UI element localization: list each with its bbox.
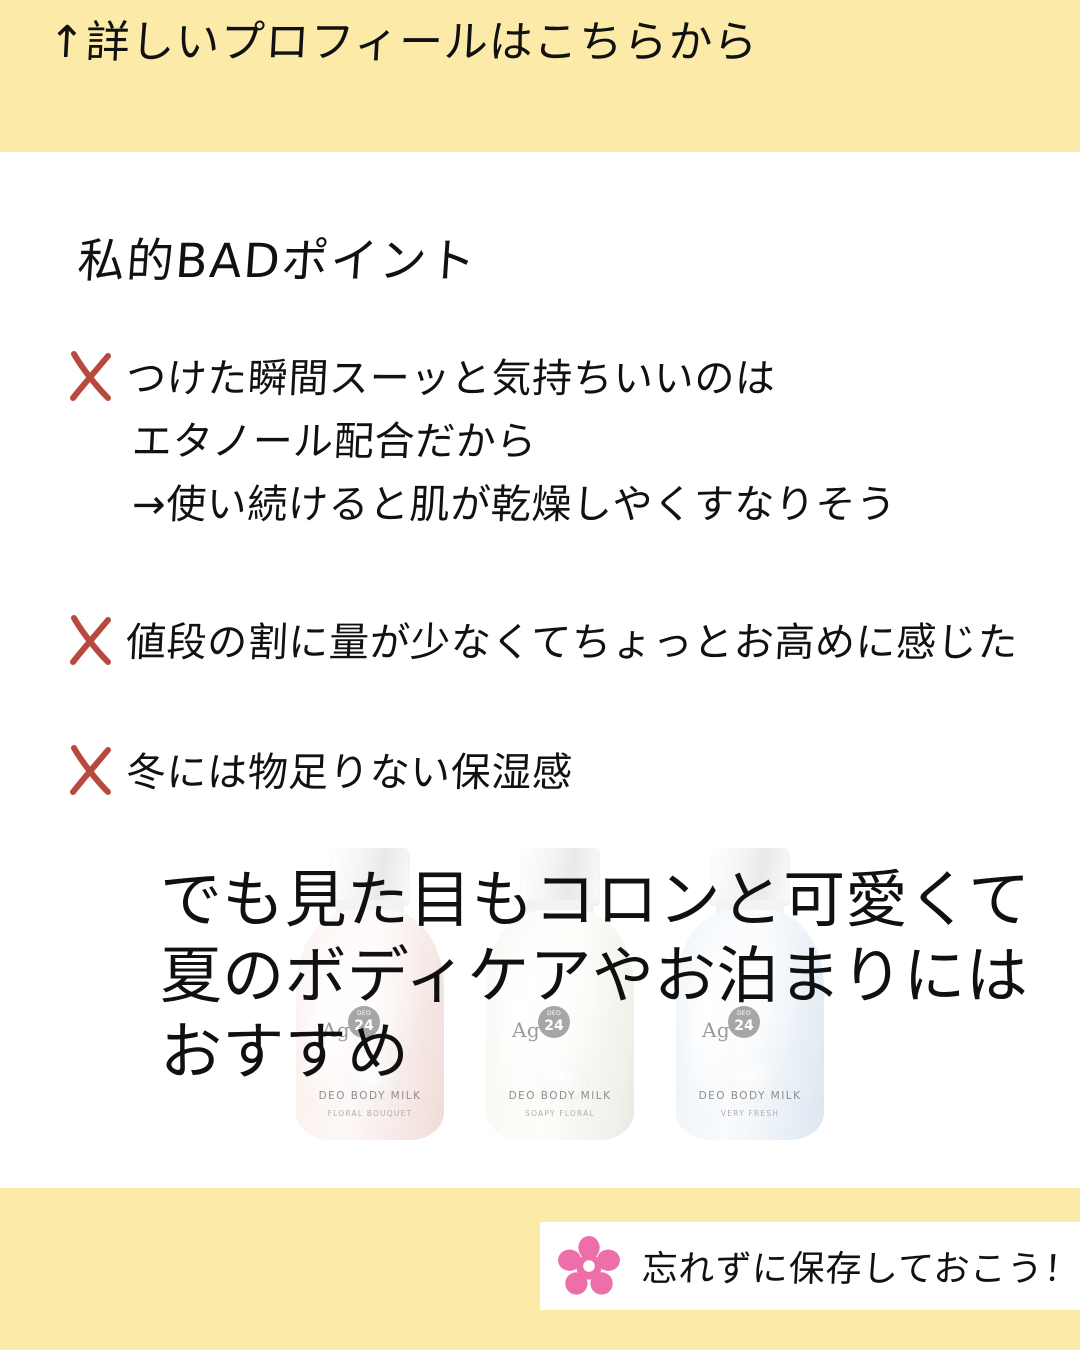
bottle-label-sub: VERY FRESH	[676, 1109, 824, 1118]
bad-point-line: →使い続けると肌が乾燥しやくすなりそう	[124, 474, 1069, 537]
x-mark-icon	[68, 350, 114, 402]
save-reminder-box: 忘れずに保存しておこう！	[540, 1222, 1080, 1310]
promo-line: おすすめ	[0, 1014, 1080, 1090]
bottle-label-sub: SOAPY FLORAL	[486, 1109, 634, 1118]
page-title: 私的BADポイント	[76, 222, 480, 291]
bad-point-line: エタノール配合だから	[124, 411, 1069, 474]
save-reminder-text: 忘れずに保存しておこう！	[641, 1240, 1080, 1292]
list-item: 冬には物足りない保湿感	[68, 742, 1068, 805]
bad-point-line: 冬には物足りない保湿感	[124, 742, 1069, 805]
list-item-text: 冬には物足りない保湿感	[126, 742, 1068, 805]
bottle-label-sub: FLORAL BOUQUET	[296, 1109, 444, 1118]
promo-line: でも見た目もコロンと可愛くて	[0, 862, 1080, 938]
bottle-label-main: DEO BODY MILK	[296, 1090, 444, 1102]
promo-line: 夏のボディケアやお泊まりには	[0, 938, 1080, 1014]
top-banner: ↑詳しいプロフィールはこちらから	[0, 0, 1080, 152]
list-item-text: 値段の割に量が少なくてちょっとお高めに感じた	[126, 612, 1068, 675]
bottle-label-main: DEO BODY MILK	[676, 1090, 824, 1102]
promo-overlay: でも見た目もコロンと可愛くて 夏のボディケアやお泊まりには おすすめ	[0, 862, 1080, 1090]
x-mark-icon	[68, 614, 114, 666]
list-item-text: つけた瞬間スーッと気持ちいいのは エタノール配合だから →使い続けると肌が乾燥し…	[126, 348, 1068, 537]
bad-point-line: 値段の割に量が少なくてちょっとお高めに感じた	[124, 612, 1069, 675]
bad-point-line: つけた瞬間スーッと気持ちいいのは	[124, 348, 1069, 411]
profile-link-text[interactable]: ↑詳しいプロフィールはこちらから	[47, 18, 760, 69]
post-canvas: ↑詳しいプロフィールはこちらから 私的BADポイント つけた瞬間スーッと気持ちい…	[0, 0, 1080, 1350]
list-item: つけた瞬間スーッと気持ちいいのは エタノール配合だから →使い続けると肌が乾燥し…	[68, 348, 1068, 537]
bottle-label-main: DEO BODY MILK	[486, 1090, 634, 1102]
x-mark-icon	[68, 744, 114, 796]
flower-icon	[558, 1235, 620, 1297]
list-item: 値段の割に量が少なくてちょっとお高めに感じた	[68, 612, 1068, 675]
